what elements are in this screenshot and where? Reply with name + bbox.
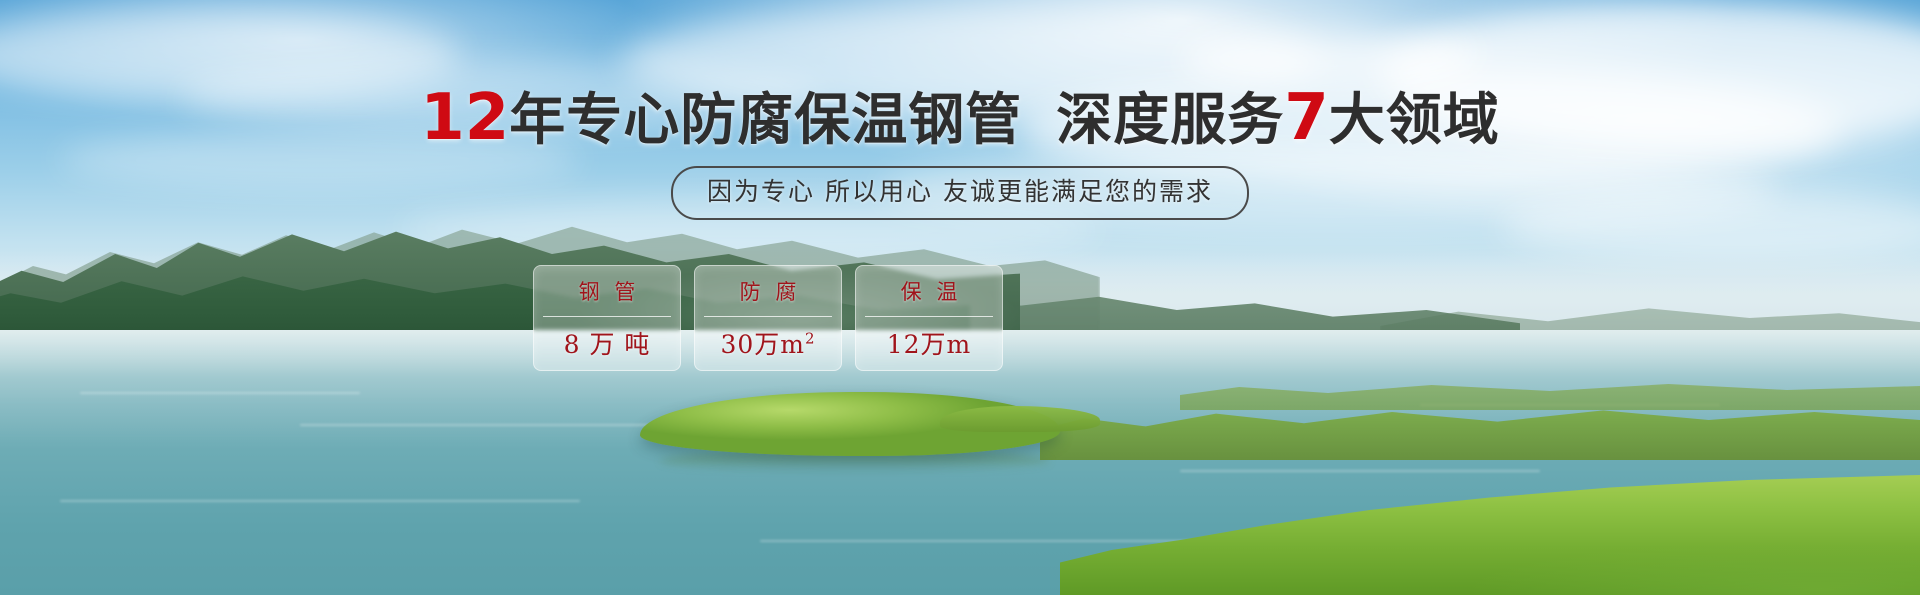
stat-value: 8 万 吨 <box>564 331 651 359</box>
stats-row: 钢 管 8 万 吨 防 腐 30万m2 保 温 12万m <box>533 265 1003 371</box>
stat-value-text: 8 万 吨 <box>564 330 651 359</box>
stat-divider <box>704 316 832 317</box>
island-tail <box>940 406 1100 432</box>
stat-card-steel-pipe[interactable]: 钢 管 8 万 吨 <box>533 265 681 371</box>
water-ripple <box>60 500 580 502</box>
headline-text-secondary: 深度服务 <box>1056 88 1284 153</box>
headline-fields-number: 7 <box>1284 81 1329 155</box>
stat-value: 30万m2 <box>720 331 815 359</box>
stat-value-text: 12万m <box>887 330 972 359</box>
stat-card-insulation[interactable]: 保 温 12万m <box>855 265 1003 371</box>
headline-text-tertiary: 大领域 <box>1329 88 1500 153</box>
stat-divider <box>543 316 671 317</box>
headline-years-number: 12 <box>420 81 509 155</box>
subtitle-container: 因为专心 所以用心 友诚更能满足您的需求 <box>0 166 1920 220</box>
water-ripple <box>1180 470 1540 472</box>
stat-label: 防 腐 <box>736 280 801 304</box>
stat-label: 保 温 <box>897 280 962 304</box>
water-ripple <box>760 540 1220 542</box>
subtitle-pill: 因为专心 所以用心 友诚更能满足您的需求 <box>671 166 1249 220</box>
stat-value-text: 30万m <box>720 330 805 359</box>
stat-value-superscript: 2 <box>805 330 816 348</box>
stat-divider <box>865 316 993 317</box>
stat-card-anticorrosion[interactable]: 防 腐 30万m2 <box>694 265 842 371</box>
water-ripple <box>80 392 360 394</box>
headline-text-primary: 年专心防腐保温钢管 <box>509 88 1022 153</box>
banner-headline: 12年专心防腐保温钢管深度服务7大领域 <box>0 88 1920 151</box>
stat-value: 12万m <box>887 331 972 359</box>
hero-banner: 12年专心防腐保温钢管深度服务7大领域 因为专心 所以用心 友诚更能满足您的需求… <box>0 0 1920 595</box>
stat-label: 钢 管 <box>575 280 640 304</box>
